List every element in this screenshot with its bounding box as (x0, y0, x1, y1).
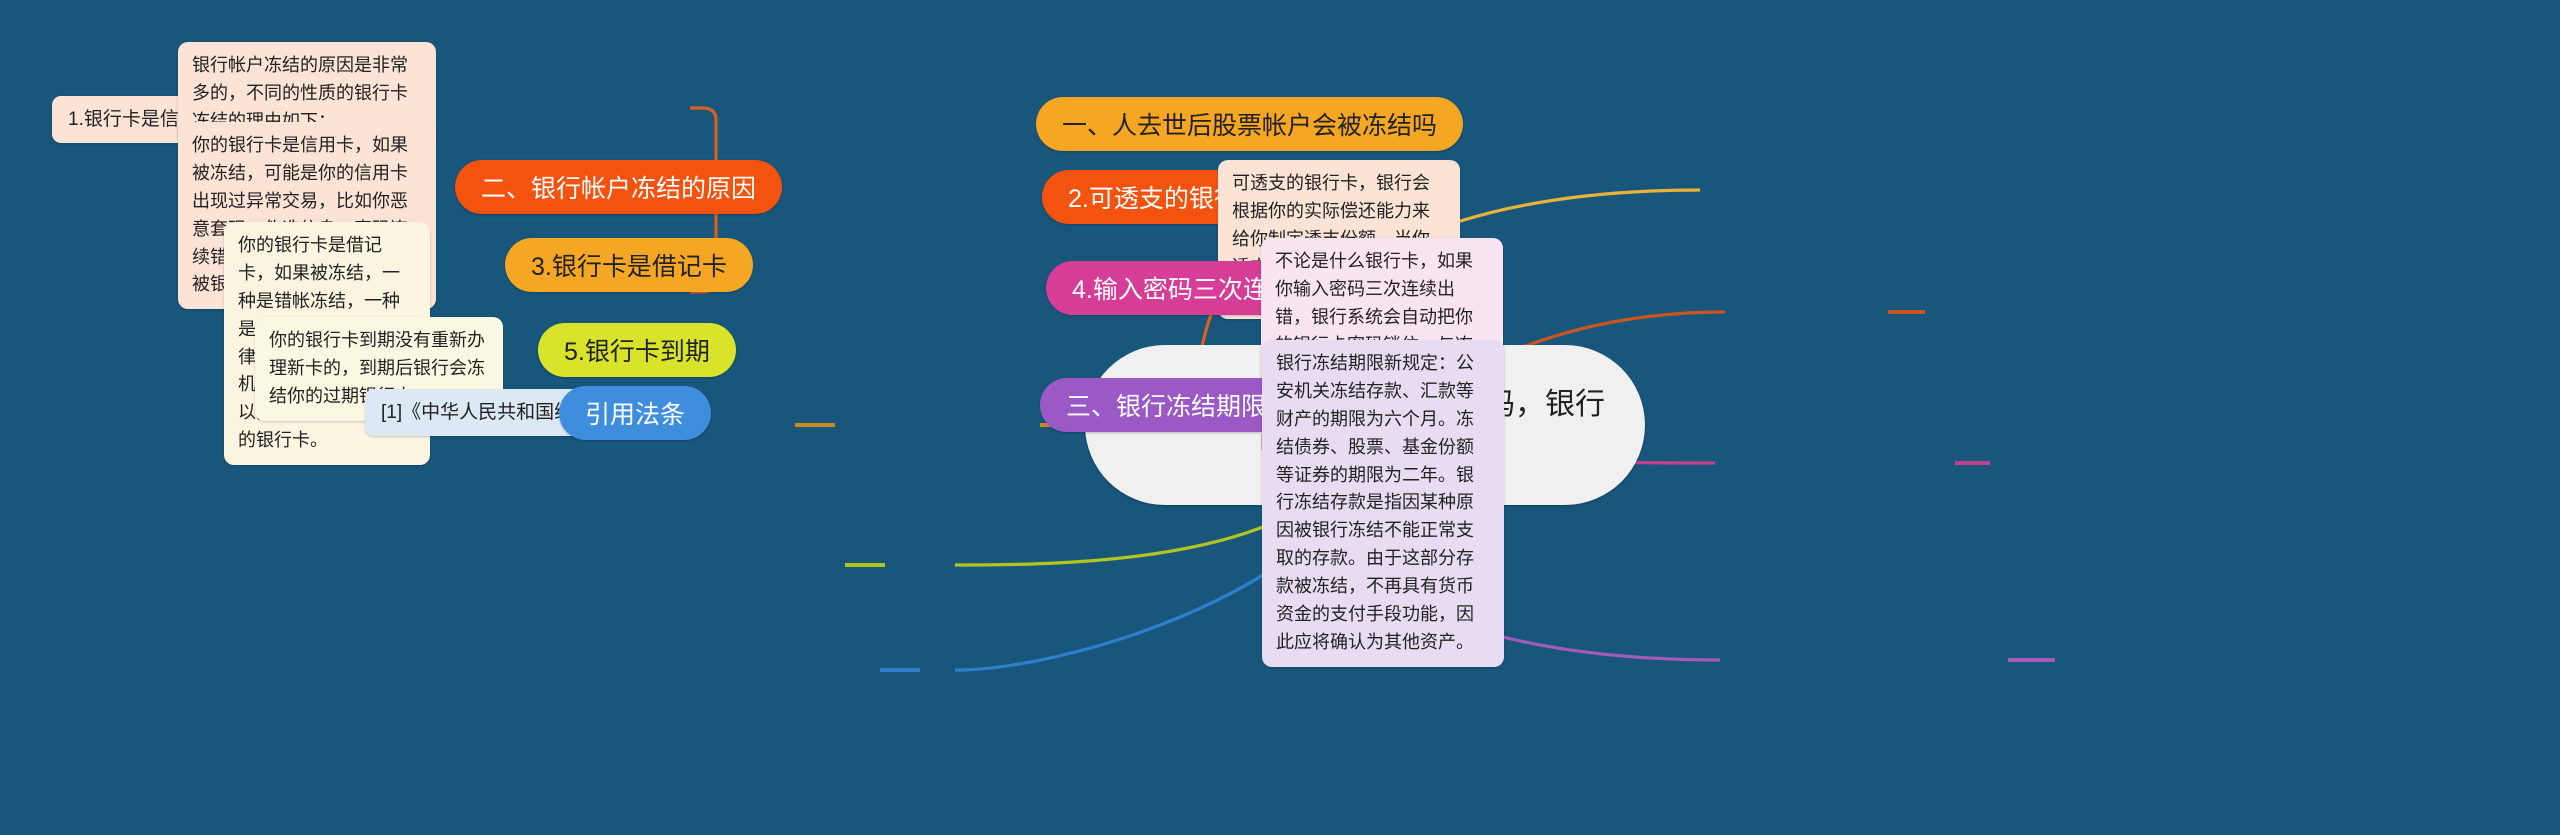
note-branch-3-a[interactable]: 银行冻结期限新规定：公安机关冻结存款、汇款等财产的期限为六个月。冻结债券、股票、… (1262, 340, 1504, 667)
sub-node-5[interactable]: 5.银行卡到期 (538, 323, 736, 377)
branch-node-1[interactable]: 一、人去世后股票帐户会被冻结吗 (1036, 97, 1463, 151)
mindmap-canvas: 人去世后股票帐户会被冻结吗，银行帐户冻结的原因 1.银行卡是信用卡 银行帐户冻结… (0, 0, 2560, 835)
sub-node-6[interactable]: 引用法条 (559, 386, 711, 440)
sub-node-3[interactable]: 3.银行卡是借记卡 (505, 238, 753, 292)
branch-node-2[interactable]: 二、银行帐户冻结的原因 (455, 160, 782, 214)
